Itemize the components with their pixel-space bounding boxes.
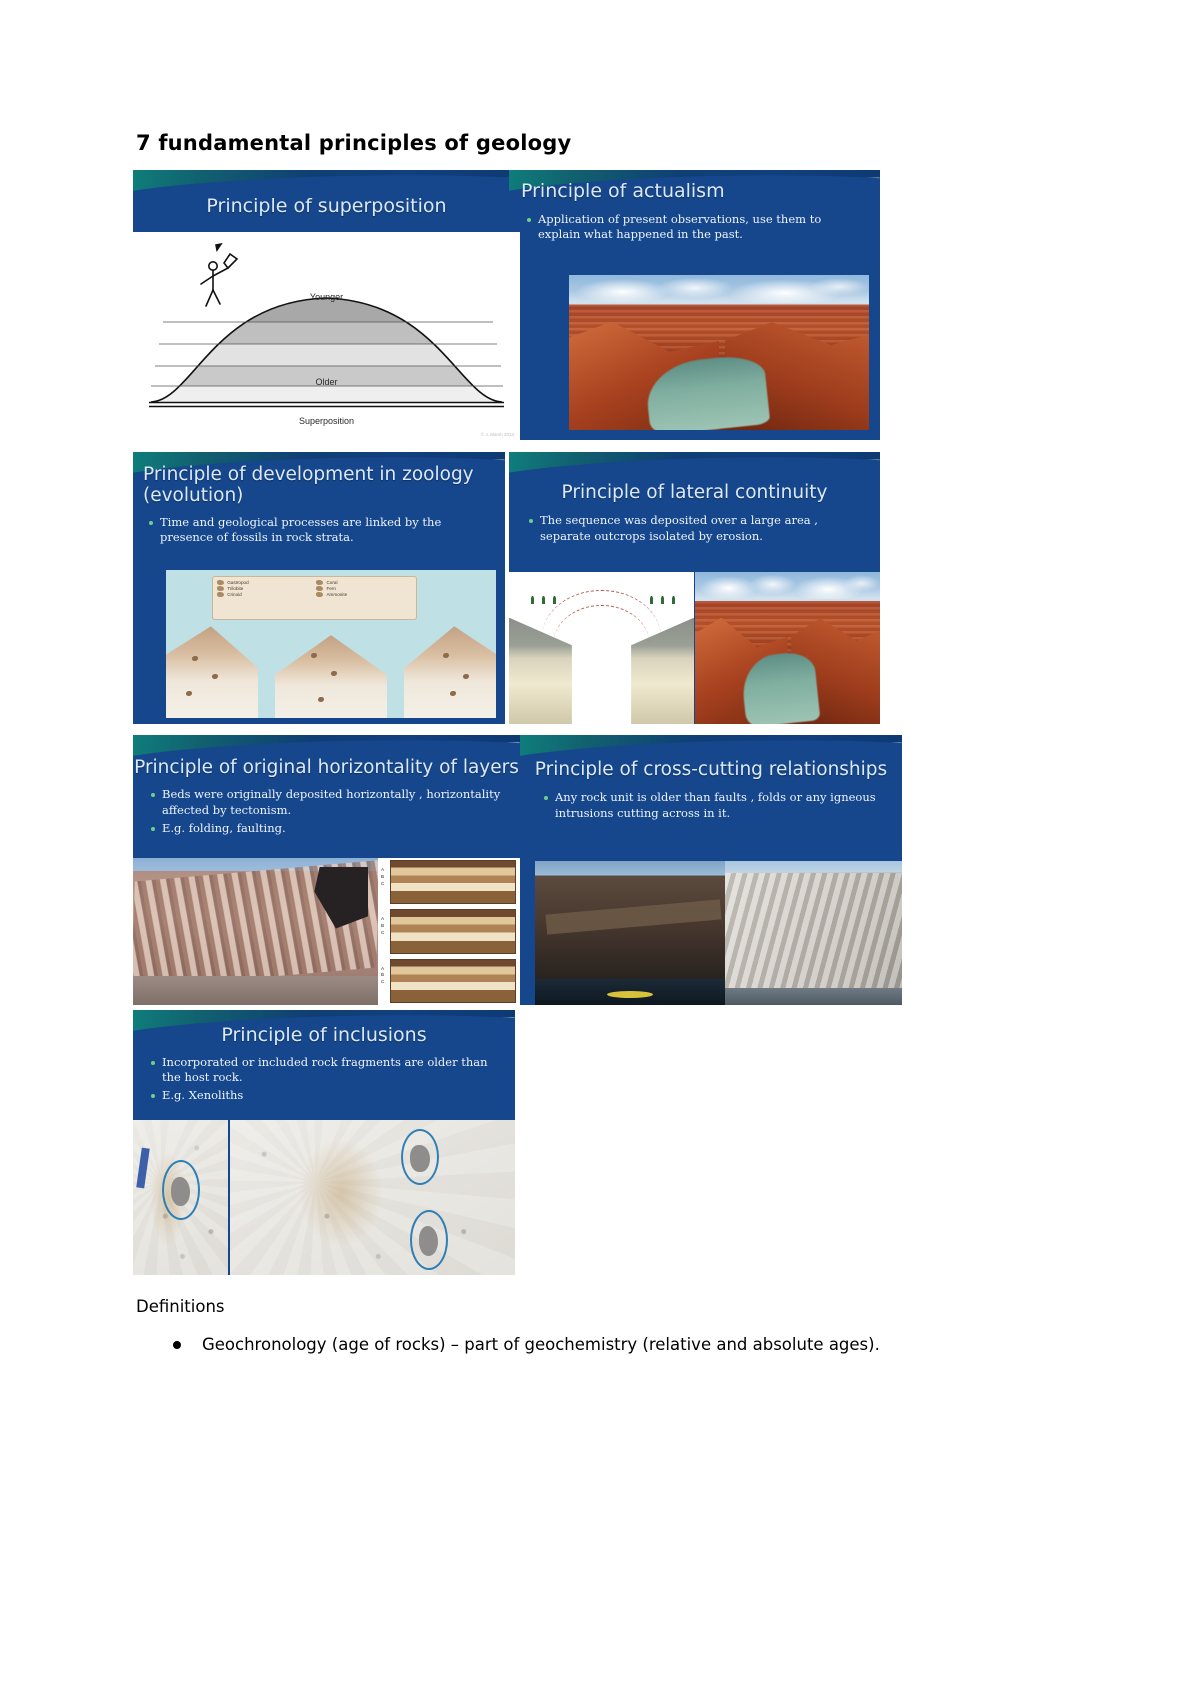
dark-outcrop-photo: [535, 861, 725, 1005]
legend-entry: Ammonite: [316, 592, 411, 597]
folded-strata-photo: [133, 858, 378, 1005]
slide-bullets: Time and geological processes are linked…: [147, 515, 491, 545]
xenolith-circle: [162, 1160, 200, 1220]
slide-title: Principle of cross-cutting relationships: [520, 759, 902, 780]
definitions-list: Geochronology (age of rocks) – part of g…: [136, 1333, 996, 1356]
slide-title: Principle of superposition: [133, 195, 520, 217]
outcrop-correlation-diagram: [509, 572, 694, 724]
xenolith-photo-right: [230, 1120, 515, 1275]
slide-bullets: The sequence was deposited over a large …: [527, 513, 862, 543]
bullet-item: Application of present observations, use…: [525, 212, 864, 242]
pale-cliff-photo: [725, 861, 902, 1005]
bullet-item: E.g. folding, faulting.: [149, 821, 504, 836]
slide-cross-cutting-relationships: Principle of cross-cutting relationships…: [520, 735, 902, 1005]
slide-title: Principle of original horizontality of l…: [133, 757, 520, 778]
slide-bullets: Incorporated or included rock fragments …: [149, 1055, 499, 1104]
legend-entry: Gastropod: [217, 580, 312, 585]
bullet-item: The sequence was deposited over a large …: [527, 513, 862, 543]
block-letters: ABC: [381, 916, 384, 937]
slide-lateral-continuity: Principle of lateral continuity The sequ…: [509, 452, 880, 724]
legend-entry: Trilobite: [217, 586, 312, 591]
fossil-icon: [217, 586, 224, 591]
slide-bullets: Any rock unit is older than faults , fol…: [542, 790, 880, 820]
xenolith-photo-left: [133, 1120, 228, 1275]
figure-caption: Superposition: [133, 416, 520, 426]
page-title: 7 fundamental principles of geology: [136, 131, 571, 155]
bullet-item: Incorporated or included rock fragments …: [149, 1055, 499, 1085]
slide-title: Principle of lateral continuity: [509, 482, 880, 503]
slide-title: Principle of development in zoology (evo…: [143, 464, 505, 507]
definitions-heading: Definitions: [136, 1297, 225, 1316]
slide-title: Principle of inclusions: [133, 1024, 515, 1046]
slide-wave-decoration: [509, 452, 880, 486]
bullet-item: E.g. Xenoliths: [149, 1088, 499, 1103]
xenolith-circle: [401, 1129, 439, 1185]
figure-credit: © J. Marsh 2013: [481, 432, 514, 437]
bullet-item: Any rock unit is older than faults , fol…: [542, 790, 880, 820]
fossil-legend: Gastropod Coral Trilobite Fern Crinoid A…: [212, 576, 417, 620]
superposition-diagram: [133, 232, 520, 440]
canyon-photo: [569, 275, 869, 430]
legend-entry: Coral: [316, 580, 411, 585]
xenolith-circle: [410, 1210, 448, 1270]
block-letters: ABC: [381, 867, 384, 888]
slide-inclusions: Principle of inclusions Incorporated or …: [133, 1010, 515, 1275]
slide-bullets: Beds were originally deposited horizonta…: [149, 787, 504, 836]
legend-entry: Fern: [316, 586, 411, 591]
superposition-figure: Younger Older Superposition © J. Marsh 2…: [133, 232, 520, 440]
fold-block-diagram: ABC ABC ABC: [378, 858, 520, 1005]
fossil-icon: [316, 586, 323, 591]
slide-superposition: Principle of superposition: [133, 170, 520, 440]
kayak-icon: [607, 991, 653, 998]
fossil-icon: [316, 580, 323, 585]
layer-label-older: Older: [133, 377, 520, 387]
list-item: Geochronology (age of rocks) – part of g…: [136, 1333, 996, 1356]
slide-development-in-zoology: Principle of development in zoology (evo…: [133, 452, 505, 724]
slide-original-horizontality: Principle of original horizontality of l…: [133, 735, 520, 1005]
legend-entry: Crinoid: [217, 592, 312, 597]
slide-title: Principle of actualism: [521, 180, 880, 202]
document-page: 7 fundamental principles of geology Prin…: [0, 0, 1200, 1696]
fossil-strata-diagram: Gastropod Coral Trilobite Fern Crinoid A…: [166, 570, 496, 718]
canyon-photo: [695, 572, 880, 724]
fossil-icon: [217, 580, 224, 585]
layer-label-younger: Younger: [133, 292, 520, 302]
bullet-item: Beds were originally deposited horizonta…: [149, 787, 504, 817]
slide-bullets: Application of present observations, use…: [525, 212, 864, 242]
fossil-icon: [217, 592, 224, 597]
slide-actualism: Principle of actualism Application of pr…: [509, 170, 880, 440]
fossil-icon: [316, 592, 323, 597]
bullet-item: Time and geological processes are linked…: [147, 515, 491, 545]
block-letters: ABC: [381, 966, 384, 987]
